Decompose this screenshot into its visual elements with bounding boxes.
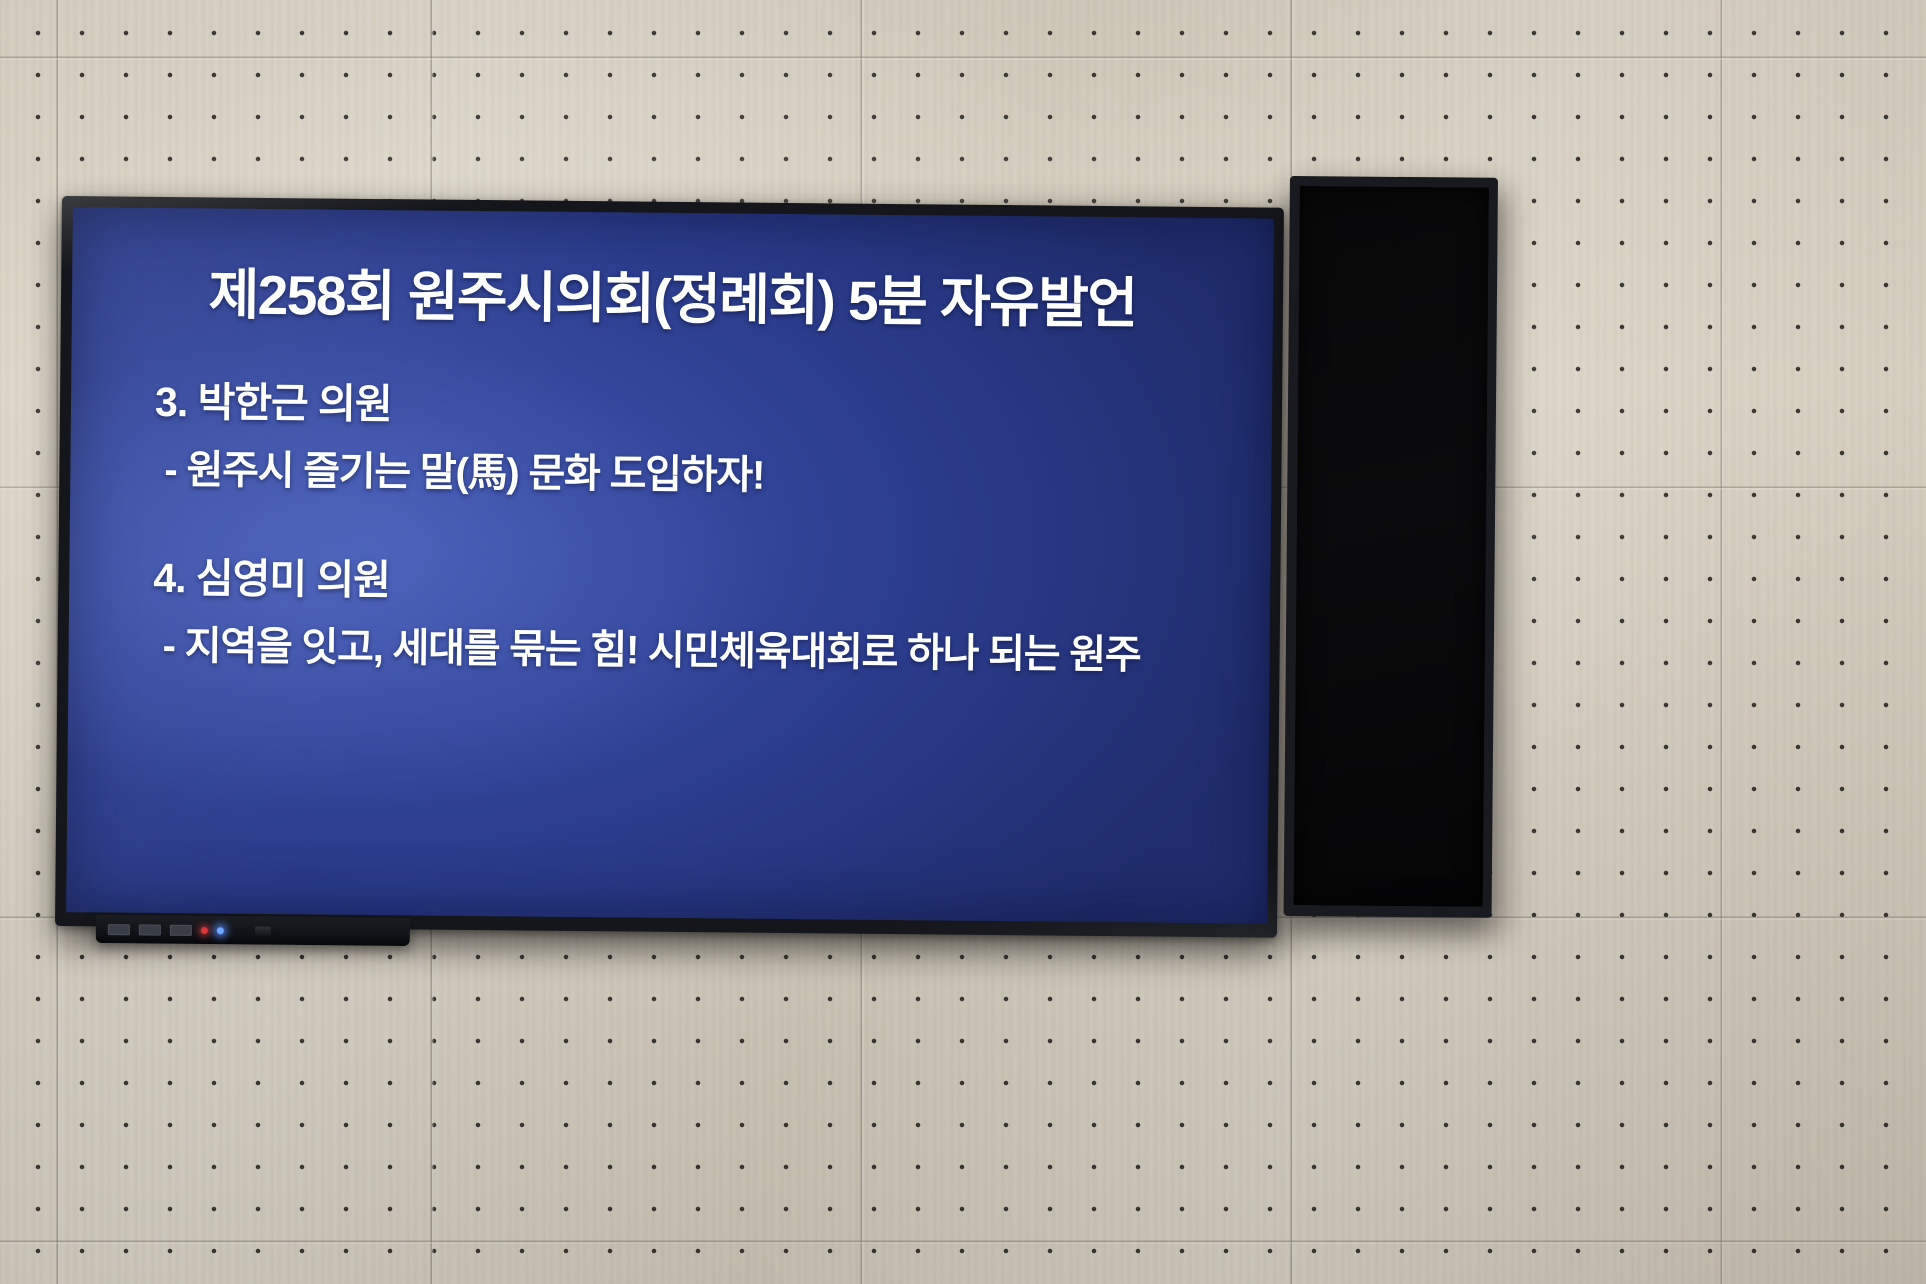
agenda-speaker-line: 3. 박한근 의원 [155,376,1214,436]
presentation-slide: 제258회 원주시의회(정례회) 5분 자유발언 3. 박한근 의원 -원주시 … [66,207,1274,923]
power-led-icon [201,927,208,934]
main-display-bezel[interactable]: 제258회 원주시의회(정례회) 5분 자유발언 3. 박한근 의원 -원주시 … [55,196,1284,938]
agenda-topic-row: -지역을 잇고, 세대를 묶는 힘! 시민체육대회로 하나 되는 원주 [162,619,1172,683]
wall-seam-vertical [1720,0,1724,1284]
agenda-dash-marker: - [164,448,177,492]
main-display-screen[interactable]: 제258회 원주시의회(정례회) 5분 자유발언 3. 박한근 의원 -원주시 … [66,207,1274,923]
agenda-list: 3. 박한근 의원 -원주시 즐기는 말(馬) 문화 도입하자! 4. 심영미 … [126,376,1214,683]
standby-led-icon [217,927,224,934]
display-port-strip[interactable] [96,915,410,946]
agenda-speaker-line: 4. 심영미 의원 [153,553,1212,613]
usb-port-icon[interactable] [108,924,130,935]
agenda-topic-text: 지역을 잇고, 세대를 묶는 힘! 시민체육대회로 하나 되는 원주 [185,624,1141,677]
usb-port-icon[interactable] [170,924,192,935]
usb-port-icon[interactable] [139,924,161,935]
screenshot-stage: 제258회 원주시의회(정례회) 5분 자유발언 3. 박한근 의원 -원주시 … [0,0,1926,1284]
agenda-item: 3. 박한근 의원 -원주시 즐기는 말(馬) 문화 도입하자! [128,376,1214,507]
slide-title: 제258회 원주시의회(정례회) 5분 자유발언 [130,264,1216,335]
agenda-dash-marker: - [162,624,175,668]
side-display-bezel[interactable] [1284,176,1498,918]
agenda-topic-row: -원주시 즐기는 말(馬) 문화 도입하자! [164,443,1174,507]
agenda-topic-text: 원주시 즐기는 말(馬) 문화 도입하자! [186,448,764,498]
ir-sensor-icon [255,926,271,935]
wall-seam-horizontal [0,1240,1926,1244]
agenda-item: 4. 심영미 의원 -지역을 잇고, 세대를 묶는 힘! 시민체육대회로 하나 … [126,553,1212,684]
wall-seam-horizontal [0,56,1926,60]
side-display-screen[interactable] [1294,186,1489,907]
